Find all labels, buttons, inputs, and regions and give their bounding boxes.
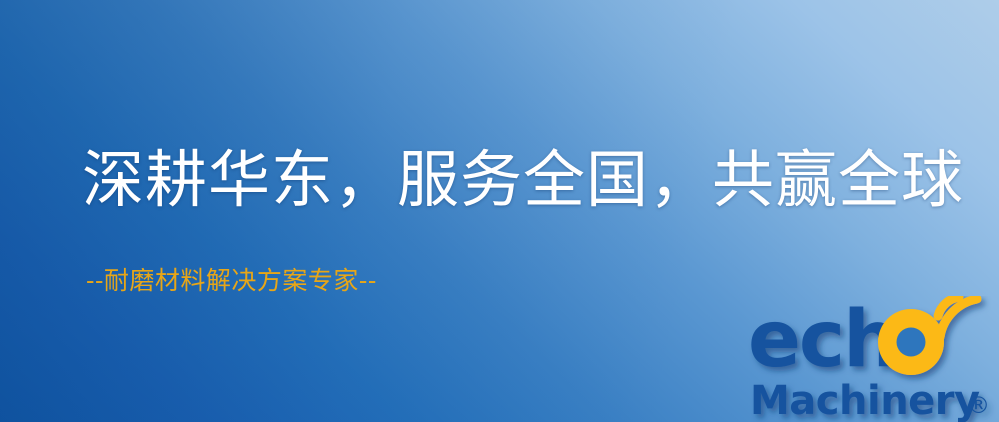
page-subtitle: --耐磨材料解决方案专家-- xyxy=(86,268,377,293)
logo-machinery-text: Machinery xyxy=(750,378,980,422)
logo-ech-text: ech xyxy=(748,296,897,385)
signal-wave-icon xyxy=(938,297,977,337)
registered-trademark-icon: ® xyxy=(967,393,990,419)
logo-graphic: ech Machinery ® xyxy=(748,296,999,422)
page-title: 深耕华东，服务全国，共赢全球 xyxy=(82,149,964,211)
hero-banner: 深耕华东，服务全国，共赢全球 --耐磨材料解决方案专家-- ech xyxy=(0,0,999,422)
logo-gold-o xyxy=(878,309,944,375)
logo-echo-wordmark: ech Machinery ® xyxy=(748,296,990,422)
company-logo[interactable]: ech Machinery ® echo Machinery ® xyxy=(748,296,999,422)
